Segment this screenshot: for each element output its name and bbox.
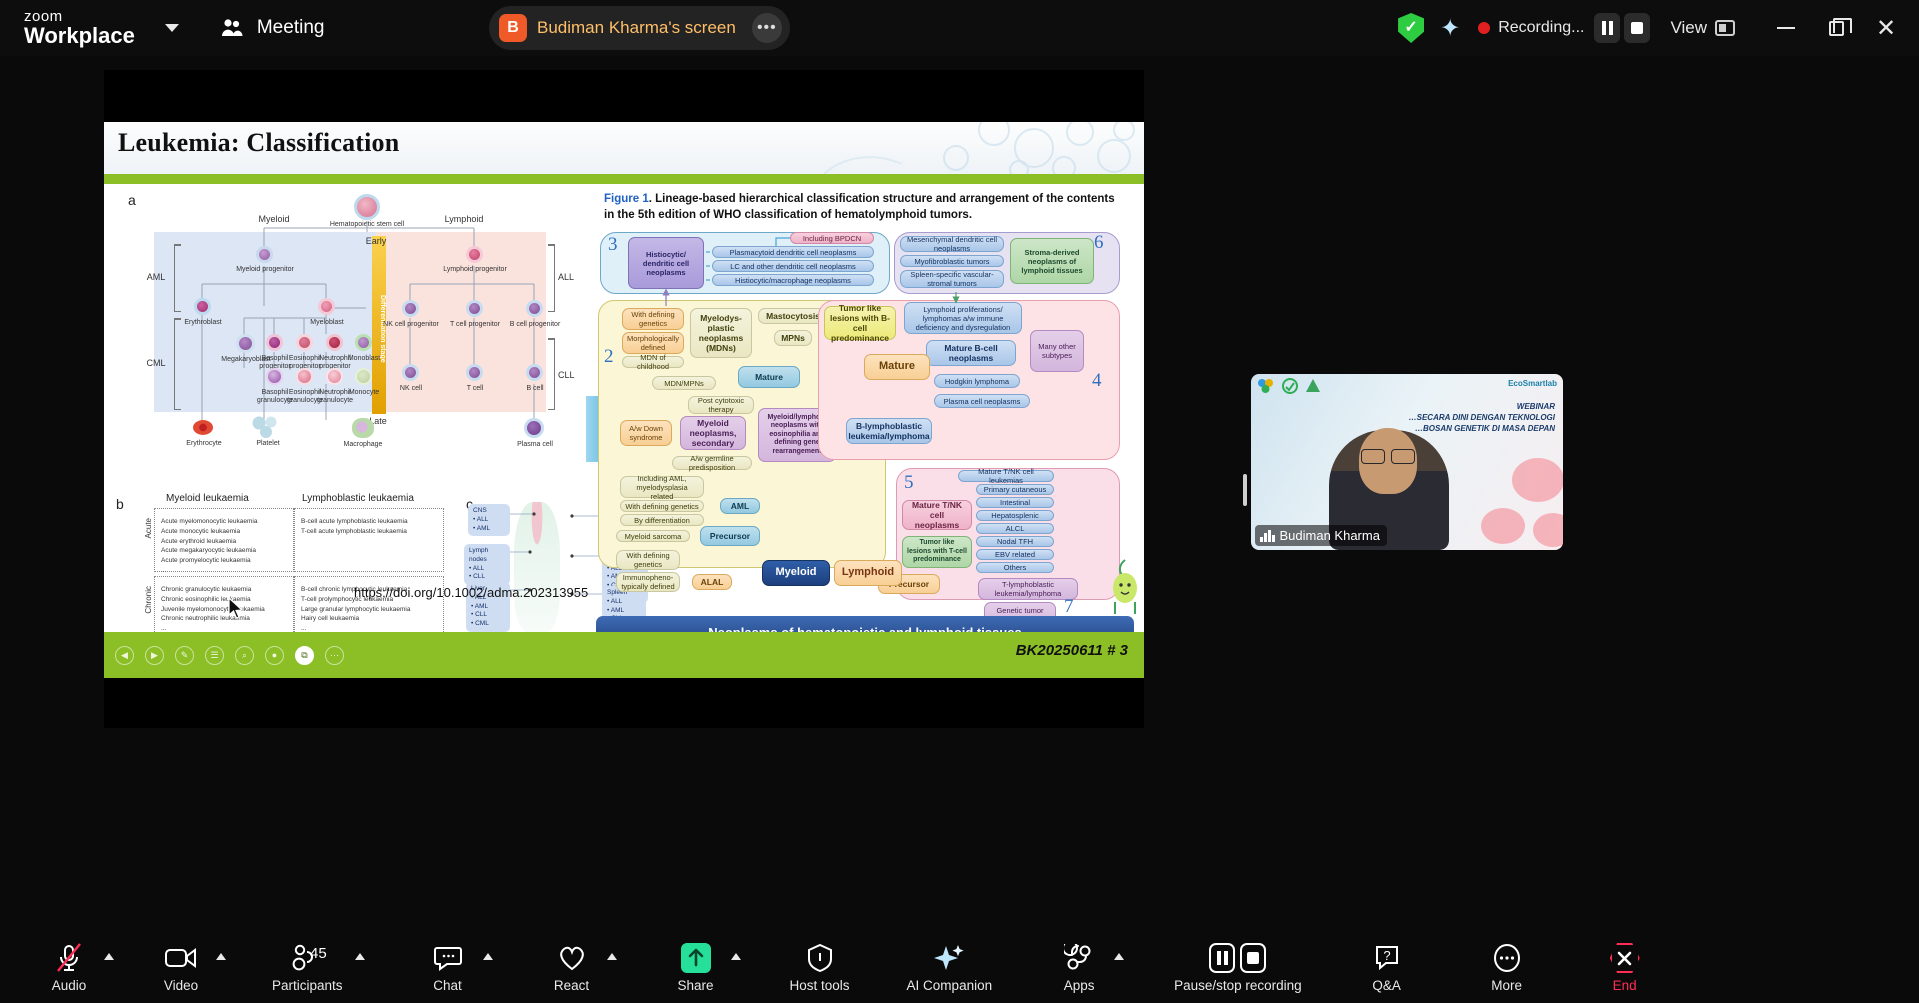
more-options-button[interactable]: ⋯ (325, 646, 344, 665)
organ-lymph-nodes: Lymph nodes • ALL • CLL (464, 544, 510, 585)
shield-check-icon[interactable]: ✓ (1398, 13, 1424, 43)
titlebar: zoom Workplace Meeting B Budiman Kharma'… (0, 0, 1919, 56)
bubble-decoration (524, 122, 1144, 174)
acute-row-label: Acute (144, 518, 153, 538)
participants-count: 45 (310, 945, 327, 962)
annotate-button[interactable]: ✎ (175, 646, 194, 665)
share-options-caret[interactable] (731, 953, 741, 960)
ellipsis-icon (1491, 941, 1523, 975)
acute-lymphoblastic-list: B-cell acute lymphoblastic leukaemia T-c… (294, 508, 444, 572)
glasses-icon (1361, 449, 1415, 462)
chat-button[interactable]: Chat (417, 931, 479, 1003)
blood-cell-illustration (1443, 440, 1563, 550)
organ-title: Lymph nodes (469, 547, 505, 565)
ai-sparkle-icon[interactable]: ✦ (1440, 14, 1460, 43)
host-tools-button[interactable]: Host tools (789, 931, 851, 1003)
share-title: Budiman Kharma's screen (537, 18, 736, 38)
myeloid-progenitor-label: Myeloid progenitor (224, 266, 306, 274)
title-divider (104, 174, 1144, 184)
platelet-label: Platelet (242, 440, 294, 448)
all-label: ALL (558, 272, 586, 282)
t-cell-progenitor-label: T cell progenitor (446, 321, 504, 329)
acute-myeloid-list: Acute myelomonocytic leukaemia Acute mon… (154, 508, 294, 572)
microphone-level-icon (1260, 530, 1275, 542)
close-icon[interactable]: ✕ (1861, 0, 1911, 56)
react-options-caret[interactable] (607, 953, 617, 960)
list-item: Hairy cell leukaemia (301, 614, 437, 624)
aml-bracket (174, 244, 175, 312)
doi-reference: https://doi.org/10.1002/adma.202313955 (354, 585, 588, 600)
list-item: Acute erythroid leukaemia (161, 537, 287, 547)
chat-label: Chat (433, 978, 462, 993)
ai-companion-label: AI Companion (907, 978, 993, 993)
list-item: T-cell acute lymphoblastic leukaemia (301, 527, 437, 537)
macrophage-icon (352, 418, 374, 438)
more-button[interactable]: More (1476, 931, 1538, 1003)
participants-options-caret[interactable] (355, 953, 365, 960)
zoom-logo: zoom Workplace (24, 9, 135, 47)
pause-stop-icon (1209, 943, 1266, 973)
basophil-granulocyte-icon (266, 368, 283, 385)
panel-b-leukaemia-tables: b Myeloid leukaemia Lymphoblastic leukae… (146, 494, 466, 639)
slide-body: a Differentiation stage Hematopoietic st… (104, 184, 1144, 654)
ellipsis-icon[interactable]: ••• (752, 13, 782, 43)
sponsor-logos (1257, 378, 1321, 394)
participants-button[interactable]: 45 Participants (272, 931, 343, 1003)
list-item: Large granular lymphocytic leukaemia (301, 605, 437, 615)
presenter-avatar: B (499, 14, 527, 42)
react-label: React (554, 978, 589, 993)
slide-footer: ◀ ▶ ✎ ☰ ⌕ ● ⧉ ⋯ BK20250611 # 3 (104, 632, 1144, 678)
cll-bracket (554, 338, 555, 410)
organ-item: • ALL (469, 565, 505, 574)
ai-sparkle-icon (933, 941, 965, 975)
eosinophil-progenitor-icon (296, 334, 313, 351)
end-button[interactable]: End (1594, 931, 1656, 1003)
video-webinar-text: WEBINAR…SECARA DINI DENGAN TEKNOLOGI…BOS… (1405, 402, 1555, 434)
shared-screen-area: Leukemia: Classification a Differentiati… (104, 70, 1144, 728)
b-cell-label: B cell (514, 385, 556, 393)
organ-title: CNS (473, 507, 505, 516)
chevron-down-icon[interactable] (165, 24, 179, 32)
eosinophil-granulocyte-icon (296, 368, 313, 385)
laser-button[interactable]: ● (265, 646, 284, 665)
end-call-icon (1610, 943, 1640, 973)
participant-name-badge: Budiman Kharma (1255, 525, 1387, 546)
organ-item: • CLL (469, 573, 505, 582)
monoblast-icon (355, 334, 372, 351)
slide-header: Leukemia: Classification (104, 122, 1144, 174)
chronic-row-label: Chronic (144, 586, 153, 614)
notes-button[interactable]: ☰ (205, 646, 224, 665)
video-button[interactable]: Video (150, 931, 212, 1003)
apps-options-caret[interactable] (1114, 953, 1124, 960)
erythrocyte-icon (193, 420, 213, 435)
zoom-button[interactable]: ⌕ (235, 646, 254, 665)
end-label: End (1613, 978, 1637, 993)
fit-screen-button[interactable]: ⧉ (295, 646, 314, 665)
cml-label: CML (142, 358, 170, 368)
share-label: Share (678, 978, 714, 993)
macrophage-label: Macrophage (336, 441, 390, 449)
organ-item: • AML (471, 603, 505, 612)
chat-bubble-icon (433, 941, 463, 975)
video-label: Video (164, 978, 198, 993)
list-item: Chronic eosinophilic leukaemia (161, 595, 287, 605)
monocyte-label: Monocyte (342, 389, 386, 397)
audio-options-caret[interactable] (104, 953, 114, 960)
monocyte-icon (355, 368, 372, 385)
neutrophil-granulocyte-icon (326, 368, 343, 385)
organ-item: • AML (473, 525, 505, 534)
plasma-cell-label: Plasma cell (506, 441, 564, 449)
next-slide-button[interactable]: ▶ (145, 646, 164, 665)
all-bracket (554, 244, 555, 312)
layout-icon[interactable] (1715, 20, 1735, 36)
meeting-stage: Leukemia: Classification a Differentiati… (0, 56, 1919, 931)
logo-icon (1305, 378, 1321, 394)
apps-label: Apps (1064, 978, 1095, 993)
b-cell-icon (526, 364, 543, 381)
ai-companion-button[interactable]: AI Companion (907, 931, 993, 1003)
restore-icon[interactable] (1811, 0, 1861, 56)
myeloid-progenitor-icon (256, 246, 273, 263)
t-cell-icon (466, 364, 483, 381)
pause-icon[interactable] (1594, 13, 1620, 43)
microphone-muted-icon (54, 941, 84, 975)
chronic-myeloid-list: Chronic granulocytic leukaemia Chronic e… (154, 576, 294, 636)
myeloblast-icon (318, 298, 335, 315)
myeloid-leukaemia-header: Myeloid leukaemia (166, 493, 249, 504)
lymphoid-progenitor-icon (466, 246, 483, 263)
participants-label: Participants (272, 978, 343, 993)
brand-workplace: Workplace (24, 25, 135, 47)
panel-c-organ-involvement: c CNS • ALL • AML (474, 494, 584, 644)
presentation-slide: Leukemia: Classification a Differentiati… (104, 122, 1144, 678)
t-cell-progenitor-icon (466, 300, 483, 317)
meeting-controls-toolbar: Audio Video 45 Participants (0, 931, 1919, 1003)
camera-icon (164, 941, 198, 975)
plasma-cell-icon (524, 418, 544, 438)
list-item: Acute promyelocytic leukaemia (161, 556, 287, 566)
monoblast-label: Monoblast (340, 355, 388, 363)
recording-status: Recording... (1498, 19, 1584, 37)
panel-resize-handle[interactable] (1243, 474, 1247, 506)
apps-button[interactable]: Apps (1048, 931, 1110, 1003)
erythrocyte-label: Erythrocyte (176, 440, 232, 448)
organ-item: • ALL (473, 516, 505, 525)
list-item: Chronic granulocytic leukaemia (161, 585, 287, 595)
more-label: More (1491, 978, 1522, 993)
list-item: Acute monocytic leukaemia (161, 527, 287, 537)
slide-mini-toolbar: ◀ ▶ ✎ ☰ ⌕ ● ⧉ ⋯ (115, 646, 344, 665)
stop-icon[interactable] (1624, 13, 1650, 43)
list-item: B-cell acute lymphoblastic leukaemia (301, 517, 437, 527)
screen-share-banner[interactable]: B Budiman Kharma's screen ••• (489, 6, 790, 50)
pause-icon[interactable] (1209, 943, 1235, 973)
erythroblast-icon (194, 298, 211, 315)
share-arrow-up-icon (681, 943, 711, 973)
shield-icon (806, 941, 834, 975)
participant-name: Budiman Kharma (1280, 528, 1380, 543)
svg-text:?: ? (1383, 948, 1390, 963)
b-cell-progenitor-icon (526, 300, 543, 317)
nk-cell-progenitor-label: NK cell progenitor (382, 321, 440, 329)
minimize-icon[interactable] (1761, 0, 1811, 56)
figure1: Figure 1. Lineage-based hierarchical cla… (596, 188, 1136, 650)
list-item: Acute myelomonocytic leukaemia (161, 517, 287, 527)
myeloblast-label: Myeloblast (296, 319, 358, 327)
meeting-tab[interactable]: Meeting (219, 17, 325, 39)
megakaryoblast-icon (236, 334, 255, 353)
basophil-progenitor-icon (266, 334, 283, 351)
audio-button[interactable]: Audio (38, 931, 100, 1003)
logo-icon (1257, 378, 1275, 394)
pause-stop-recording-button[interactable]: Pause/stop recording (1174, 931, 1302, 1003)
heart-icon (557, 941, 587, 975)
qa-label: Q&A (1372, 978, 1401, 993)
cml-bracket (174, 318, 175, 410)
host-tools-label: Host tools (790, 978, 850, 993)
react-button[interactable]: React (541, 931, 603, 1003)
panel-b-label: b (116, 496, 124, 512)
slide-footer-code: BK20250611 # 3 (1016, 642, 1128, 659)
audio-label: Audio (52, 978, 87, 993)
meeting-label: Meeting (257, 17, 325, 39)
erythroblast-label: Erythroblast (172, 319, 234, 327)
organ-item: • CML (471, 620, 505, 629)
nk-cell-icon (402, 364, 419, 381)
list-item: Chronic neutrophilic leukaemia (161, 614, 287, 624)
people-icon (219, 18, 245, 38)
participant-video-tile[interactable]: EcoSmartlab WEBINAR…SECARA DINI DENGAN T… (1251, 374, 1563, 550)
video-brand-label: EcoSmartlab (1508, 379, 1557, 388)
recording-dot-icon (1478, 22, 1490, 34)
chat-options-caret[interactable] (483, 953, 493, 960)
cll-label: CLL (558, 370, 586, 380)
brand-zoom: zoom (24, 9, 135, 24)
apps-icon (1064, 941, 1094, 975)
video-options-caret[interactable] (216, 953, 226, 960)
platelet-icon (250, 416, 284, 440)
panel-a-hematopoiesis: a Differentiation stage Hematopoietic st… (114, 188, 584, 488)
list-item: Acute megakaryocytic leukaemia (161, 546, 287, 556)
question-bubble-icon: ? (1373, 941, 1401, 975)
figure1-connectors (596, 188, 1136, 650)
share-button[interactable]: Share (665, 931, 727, 1003)
prev-slide-button[interactable]: ◀ (115, 646, 134, 665)
organ-item: • CLL (471, 611, 505, 620)
nk-cell-label: NK cell (388, 385, 434, 393)
organ-cns: CNS • ALL • AML (468, 504, 510, 536)
titlebar-right-controls: ✓ ✦ Recording... View ✕ (1398, 0, 1919, 56)
list-item: ... (161, 566, 287, 576)
b-cell-progenitor-label: B cell progenitor (506, 321, 564, 329)
qa-button[interactable]: ? Q&A (1356, 931, 1418, 1003)
stop-icon[interactable] (1240, 943, 1266, 973)
list-item: Juvenile myelomonocytic leukaemia (161, 605, 287, 615)
lymphoblastic-leukaemia-header: Lymphoblastic leukaemia (302, 493, 414, 504)
page-title: Leukemia: Classification (118, 128, 399, 158)
pause-stop-recording-label: Pause/stop recording (1174, 978, 1302, 993)
lymphoid-progenitor-label: Lymphoid progenitor (440, 266, 510, 274)
neutrophil-progenitor-icon (326, 334, 343, 351)
view-label[interactable]: View (1670, 18, 1707, 38)
aml-label: AML (142, 272, 170, 282)
nk-cell-progenitor-icon (402, 300, 419, 317)
t-cell-label: T cell (454, 385, 496, 393)
logo-icon (1282, 378, 1298, 394)
